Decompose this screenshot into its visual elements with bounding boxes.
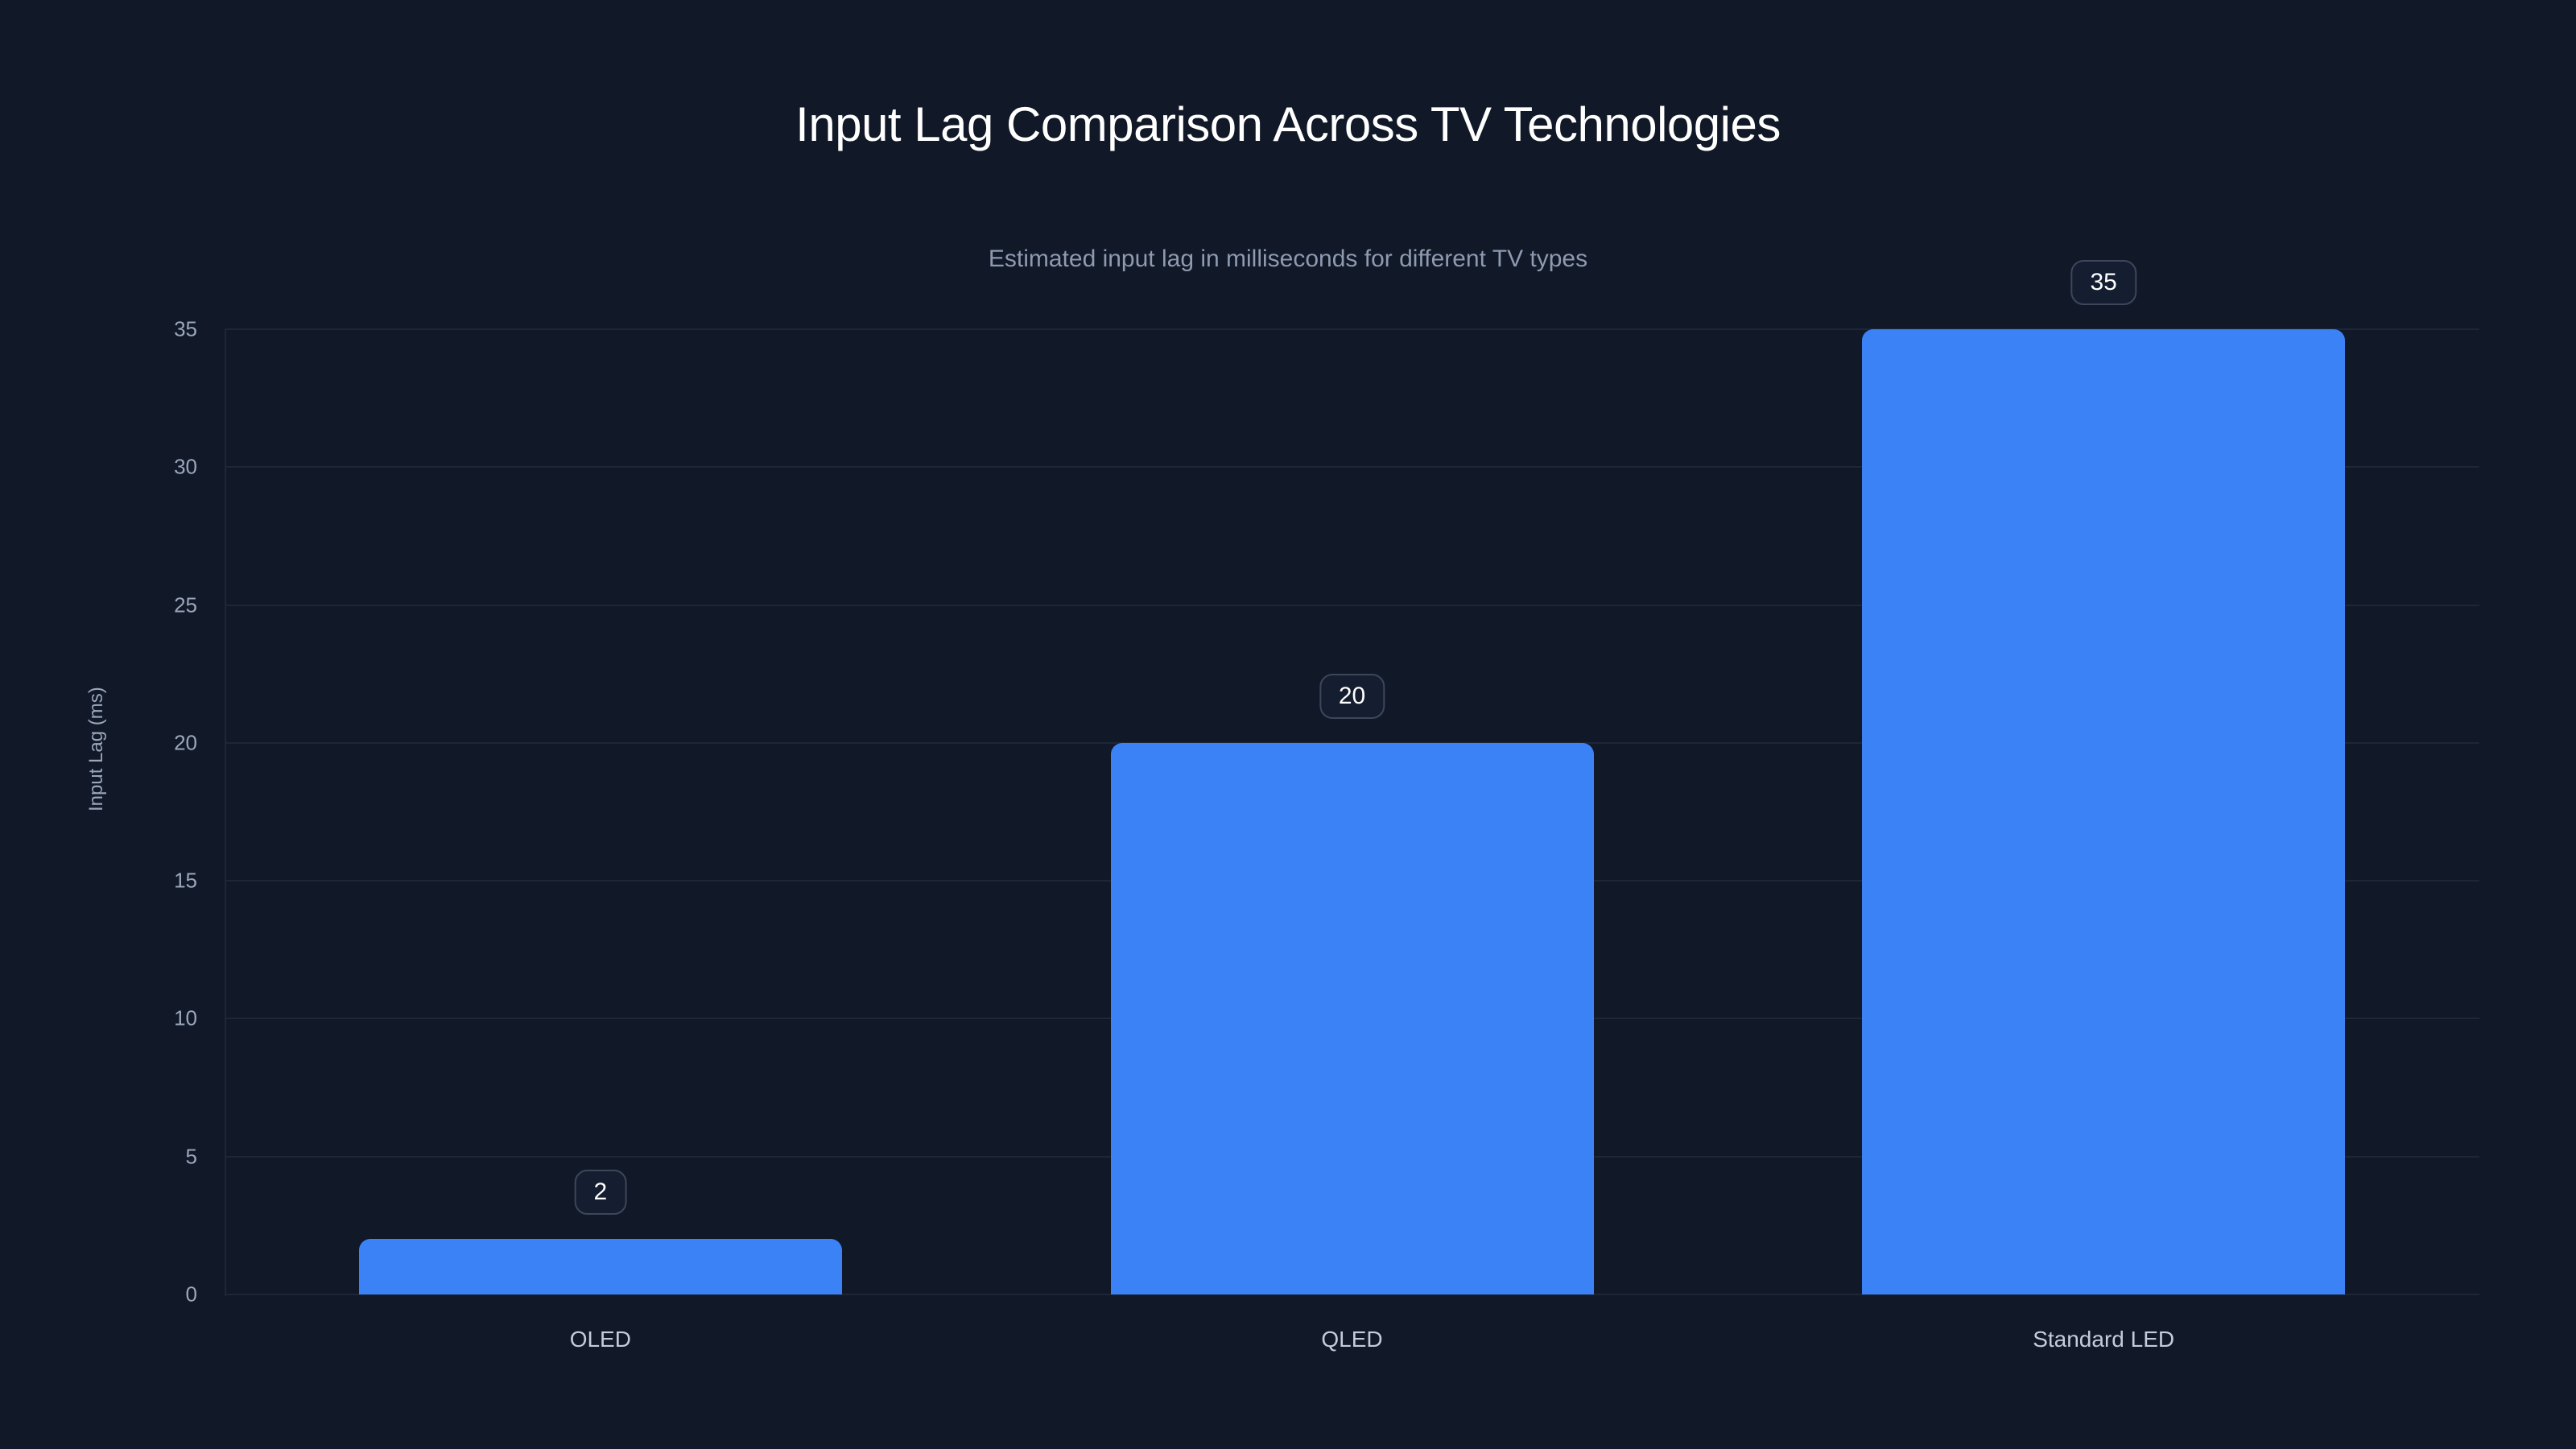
- y-axis-tick-label: 0: [0, 1282, 197, 1307]
- bar-oled[interactable]: [359, 1239, 842, 1294]
- y-axis-tick-label: 25: [0, 592, 197, 617]
- y-axis-tick-label: 15: [0, 869, 197, 894]
- bar-value-label: 35: [2070, 260, 2136, 305]
- bar-standard-led[interactable]: [1862, 329, 2345, 1294]
- chart-canvas: Input Lag Comparison Across TV Technolog…: [0, 0, 2576, 1449]
- plot-area: [225, 329, 2479, 1294]
- bar-value-label: 20: [1319, 674, 1385, 719]
- chart-title: Input Lag Comparison Across TV Technolog…: [0, 97, 2576, 152]
- bar-qled[interactable]: [1111, 743, 1594, 1294]
- x-axis-label-standard-led: Standard LED: [2033, 1327, 2174, 1352]
- y-axis-tick-label: 20: [0, 730, 197, 755]
- x-axis-label-qled: QLED: [1321, 1327, 1382, 1352]
- bar-value-label: 2: [574, 1170, 626, 1215]
- y-axis-tick-label: 5: [0, 1144, 197, 1169]
- y-axis-tick-label: 10: [0, 1006, 197, 1031]
- chart-subtitle: Estimated input lag in milliseconds for …: [0, 246, 2576, 273]
- y-axis-tick-label: 35: [0, 317, 197, 342]
- y-axis-tick-label: 30: [0, 455, 197, 480]
- x-axis-label-oled: OLED: [570, 1327, 631, 1352]
